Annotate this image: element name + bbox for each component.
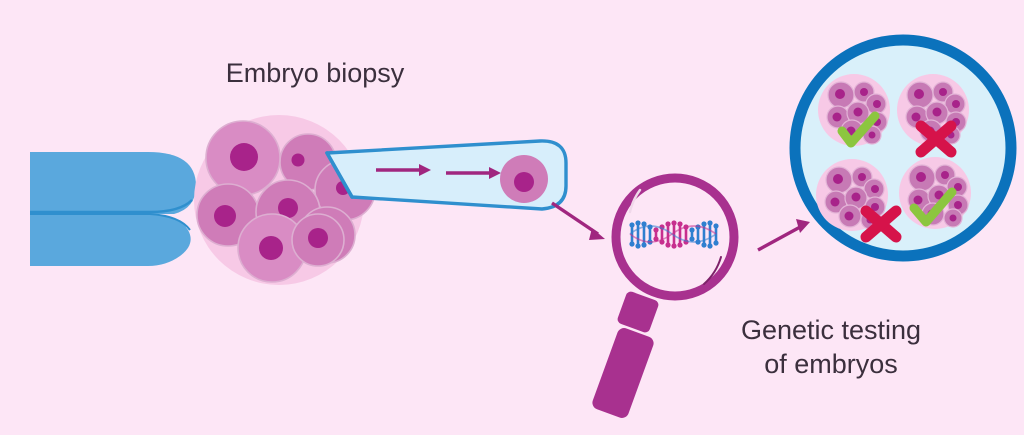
- biopsy-pipette: [327, 141, 566, 209]
- embryo-biopsy-label: Embryo biopsy: [226, 58, 405, 88]
- tested-embryo-bottom-right: [899, 157, 971, 229]
- tested-embryo-top-left: [818, 74, 890, 146]
- genetic-testing-label-line1: Genetic testing: [741, 315, 921, 345]
- dna-double-helix: [629, 220, 718, 248]
- genetic-testing-label-line2: of embryos: [764, 349, 898, 379]
- holding-pipette: [30, 152, 196, 266]
- extracted-cell: [500, 155, 548, 203]
- petri-dish: [795, 40, 1011, 256]
- pgt-process-illustration: Embryo biopsy Genetic testing of embryos: [0, 0, 1024, 435]
- petri-dish-ring: [795, 40, 1011, 256]
